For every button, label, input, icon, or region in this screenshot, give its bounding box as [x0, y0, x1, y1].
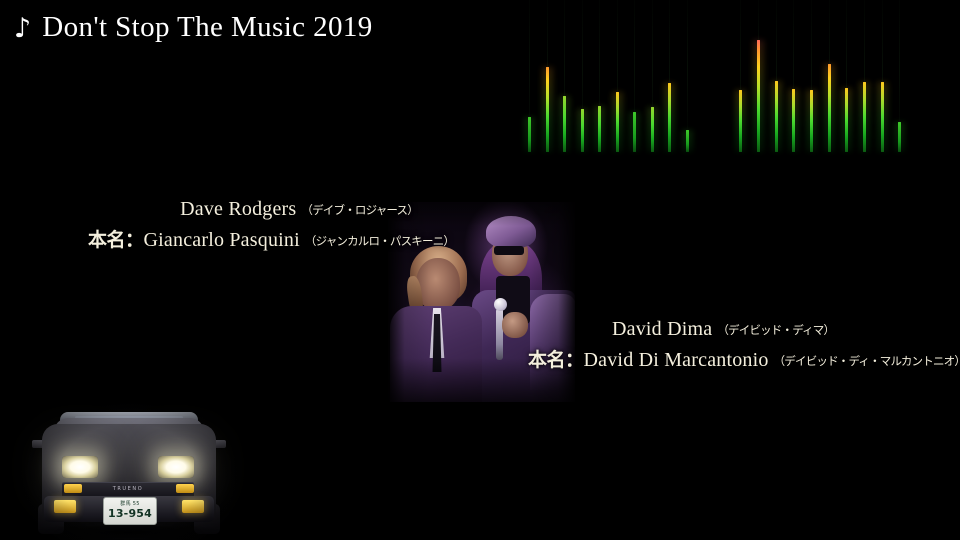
license-plate-number: 13-954	[104, 507, 156, 520]
spectrum-bar	[616, 92, 619, 152]
license-plate: 群馬 55 13-954	[103, 497, 157, 525]
spectrum-bar	[898, 122, 901, 152]
turn-signal-left	[64, 484, 82, 493]
spectrum-bar	[668, 83, 671, 152]
page-title: Don't Stop The Music 2019	[42, 11, 372, 44]
stage-name: David Dima	[612, 318, 712, 341]
real-name-label: 本名：	[88, 225, 144, 252]
spectrum-bar	[739, 90, 742, 152]
credit-real-name-row: 本名： Giancarlo Pasquini （ジャンカルロ・パスキーニ）	[88, 225, 454, 252]
headlight-left	[62, 456, 98, 478]
real-name: Giancarlo Pasquini	[144, 229, 300, 252]
spectrum-bar	[881, 82, 884, 152]
credit-dave-rodgers: Dave Rodgers （デイブ・ロジャース） 本名： Giancarlo P…	[88, 198, 454, 252]
stage-name-kana: （デイブ・ロジャース）	[301, 202, 418, 218]
real-name-kana: （デイビッド・ディ・マルカントニオ）	[774, 353, 960, 369]
spectrum-bar	[581, 109, 584, 152]
spectrum-bar	[775, 81, 778, 152]
credit-real-name-row: 本名： David Di Marcantonio （デイビッド・ディ・マルカント…	[528, 345, 960, 372]
credit-stage-name-row: Dave Rodgers （デイブ・ロジャース）	[88, 198, 454, 221]
credit-stage-name-row: David Dima （デイビッド・ディマ）	[528, 318, 960, 341]
license-plate-region: 群馬 55	[104, 500, 156, 507]
spectrum-bar	[598, 106, 601, 152]
fog-light-left	[54, 500, 76, 513]
spectrum-bar	[528, 117, 531, 152]
spectrum-bar	[546, 67, 549, 152]
turn-signal-right	[176, 484, 194, 493]
spectrum-bar	[651, 107, 654, 152]
stage-name-kana: （デイビッド・ディマ）	[717, 322, 834, 338]
spectrum-bar	[810, 90, 813, 152]
spectrum-bar	[686, 130, 689, 152]
real-name-kana: （ジャンカルロ・パスキーニ）	[305, 233, 454, 249]
song-title-bar: ♪ Don't Stop The Music 2019	[14, 11, 373, 44]
real-name-label: 本名：	[528, 345, 584, 372]
spectrum-bar	[828, 64, 831, 152]
spectrum-bar	[792, 89, 795, 152]
headlight-right	[158, 456, 194, 478]
audio-spectrum-visualizer	[520, 18, 950, 152]
spectrum-bar	[757, 40, 760, 152]
real-name: David Di Marcantonio	[584, 349, 769, 372]
music-note-icon: ♪	[14, 15, 31, 42]
spectrum-bar	[863, 82, 866, 152]
spectrum-bar	[845, 88, 848, 152]
fog-light-right	[182, 500, 204, 513]
video-frame: ♪ Don't Stop The Music 2019 Dave Rodgers…	[0, 0, 960, 540]
spectrum-bar	[563, 96, 566, 152]
credit-david-dima: David Dima （デイビッド・ディマ） 本名： David Di Marc…	[528, 318, 960, 372]
car-ground-shadow	[30, 526, 226, 540]
ae86-trueno-image: TRUENO 群馬 55 13-954	[24, 404, 234, 540]
stage-name: Dave Rodgers	[180, 198, 296, 221]
spectrum-bar	[633, 112, 636, 152]
